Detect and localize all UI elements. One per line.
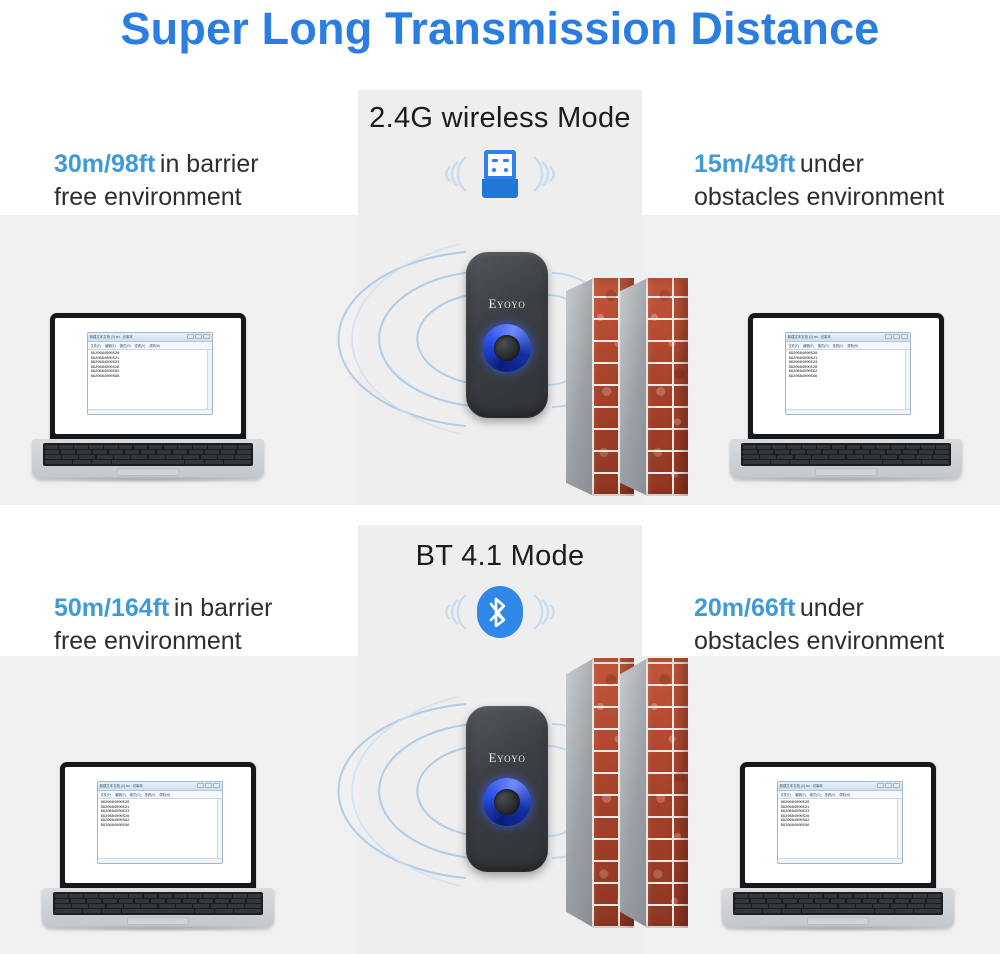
horizontal-scrollbar[interactable]: [88, 409, 212, 414]
laptop-lid: 新建文本文档 (2).txt - 记事本 文件(F) 编辑(E) 格式(O): [740, 762, 936, 890]
laptop-keyboard: [43, 443, 253, 466]
laptop-screen: 新建文本文档 (2).txt - 记事本 文件(F) 编辑(E) 格式(O): [745, 767, 931, 883]
notepad-menubar[interactable]: 文件(F) 编辑(E) 格式(O) 查看(V) 帮助(H): [98, 791, 222, 799]
notepad-menubar[interactable]: 文件(F) 编辑(E) 格式(O) 查看(V) 帮助(H): [786, 342, 910, 350]
laptop-base: [722, 888, 954, 928]
laptop-keyboard: [741, 443, 951, 466]
minimize-icon[interactable]: [877, 783, 884, 788]
notepad-text-area[interactable]: 6920684000520 6920684000521 692068400052…: [786, 350, 910, 415]
scan-button-icon[interactable]: [483, 778, 531, 826]
notepad-window-buttons[interactable]: [885, 334, 908, 339]
menu-item-view[interactable]: 查看(V): [833, 343, 844, 348]
signal-arcs-right-icon: [526, 151, 572, 197]
menu-item-help[interactable]: 帮助(H): [839, 792, 850, 797]
signal-arcs-right-icon: [526, 589, 572, 635]
notepad-titlebar: 新建文本文档 (2).txt - 记事本: [778, 782, 902, 791]
close-icon[interactable]: [213, 783, 220, 788]
mode-header-24g: 2.4G wireless Mode: [358, 102, 642, 205]
laptop-right-bt: 新建文本文档 (2).txt - 记事本 文件(F) 编辑(E) 格式(O): [722, 762, 954, 932]
barcode-line: 6920684000596: [789, 375, 907, 380]
laptop-base: [42, 888, 274, 928]
notepad-text-area[interactable]: 6920684000520 6920684000521 692068400052…: [88, 350, 212, 415]
menu-item-view[interactable]: 查看(V): [825, 792, 836, 797]
menu-item-view[interactable]: 查看(V): [145, 792, 156, 797]
distance-desc2-right-bt: obstacles environment: [694, 625, 944, 658]
laptop-lid: 新建文本文档 (2).txt - 记事本 文件(F) 编辑(E) 格式(O): [60, 762, 256, 890]
distance-value-right-24g: 15m/49ft: [694, 150, 795, 178]
distance-desc-right-24g: under: [800, 150, 864, 178]
mode-icon-wrap-bt: [358, 581, 642, 643]
menu-item-view[interactable]: 查看(V): [135, 343, 146, 348]
notepad-titlebar: 新建文本文档 (2).txt - 记事本: [786, 333, 910, 342]
menu-item-file[interactable]: 文件(F): [101, 792, 111, 797]
vertical-scrollbar[interactable]: [905, 350, 910, 410]
section-2-4g-wireless: 2.4G wireless Mode: [0, 60, 1000, 505]
menu-item-file[interactable]: 文件(F): [789, 343, 799, 348]
caption-left-24g: 30m/98ft in barrier free environment: [54, 148, 259, 214]
minimize-icon[interactable]: [197, 783, 204, 788]
notepad-window-buttons[interactable]: [197, 783, 220, 788]
minimize-icon[interactable]: [885, 334, 892, 339]
brick-wall-2-bt: [620, 658, 690, 928]
notepad-window-buttons[interactable]: [187, 334, 210, 339]
vertical-scrollbar[interactable]: [207, 350, 212, 410]
horizontal-scrollbar[interactable]: [98, 858, 222, 863]
mode-icon-wrap-24g: [358, 143, 642, 205]
scan-button-icon[interactable]: [483, 324, 531, 372]
maximize-icon[interactable]: [893, 334, 900, 339]
barcode-line: 6920684000596: [101, 824, 219, 829]
laptop-shadow: [734, 476, 958, 483]
horizontal-scrollbar[interactable]: [786, 409, 910, 414]
laptop-keyboard: [733, 892, 943, 915]
menu-item-edit[interactable]: 编辑(E): [105, 343, 116, 348]
close-icon[interactable]: [893, 783, 900, 788]
laptop-base: [730, 439, 962, 479]
menu-item-file[interactable]: 文件(F): [781, 792, 791, 797]
notepad-title-text: 新建文本文档 (2).txt - 记事本: [780, 783, 823, 788]
notepad-text-area[interactable]: 6920684000520 6920684000521 692068400052…: [98, 799, 222, 864]
distance-value-left-24g: 30m/98ft: [54, 150, 155, 178]
laptop-touchpad: [815, 468, 877, 476]
menu-item-help[interactable]: 帮助(H): [149, 343, 160, 348]
laptop-left-24g: 新建文本文档 (2).txt - 记事本 文件(F) 编辑(E) 格式(O): [32, 313, 264, 483]
barcode-line: 6920684000596: [91, 375, 209, 380]
infographic-page: Super Long Transmission Distance 2.4G wi…: [0, 0, 1000, 954]
mode-title-24g: 2.4G wireless Mode: [358, 102, 642, 135]
caption-right-bt: 20m/66ft under obstacles environment: [694, 592, 944, 658]
menu-item-file[interactable]: 文件(F): [91, 343, 101, 348]
minimize-icon[interactable]: [187, 334, 194, 339]
laptop-touchpad: [807, 917, 869, 925]
laptop-screen: 新建文本文档 (2).txt - 记事本 文件(F) 编辑(E) 格式(O): [65, 767, 251, 883]
maximize-icon[interactable]: [885, 783, 892, 788]
distance-desc2-left-24g: free environment: [54, 181, 259, 214]
signal-waves-left-24g: [228, 250, 478, 430]
notepad-text-area[interactable]: 6920684000520 6920684000521 692068400052…: [778, 799, 902, 864]
notepad-window[interactable]: 新建文本文档 (2).txt - 记事本 文件(F) 编辑(E) 格式(O): [777, 781, 903, 865]
menu-item-edit[interactable]: 编辑(E): [115, 792, 126, 797]
section-bt-41: BT 4.1 Mode: [0, 518, 1000, 954]
laptop-screen: 新建文本文档 (2).txt - 记事本 文件(F) 编辑(E) 格式(O): [55, 318, 241, 434]
close-icon[interactable]: [203, 334, 210, 339]
close-icon[interactable]: [901, 334, 908, 339]
notepad-menubar[interactable]: 文件(F) 编辑(E) 格式(O) 查看(V) 帮助(H): [778, 791, 902, 799]
menu-item-format[interactable]: 格式(O): [130, 792, 141, 797]
distance-desc-left-bt: in barrier: [174, 594, 273, 622]
menu-item-edit[interactable]: 编辑(E): [795, 792, 806, 797]
brick-wall-2-24g: [620, 278, 690, 496]
device-brand-label: Eyoyo: [466, 296, 548, 312]
notepad-titlebar: 新建文本文档 (2).txt - 记事本: [88, 333, 212, 342]
notepad-menubar[interactable]: 文件(F) 编辑(E) 格式(O) 查看(V) 帮助(H): [88, 342, 212, 350]
laptop-base: [32, 439, 264, 479]
vertical-scrollbar[interactable]: [897, 799, 902, 859]
notepad-window[interactable]: 新建文本文档 (2).txt - 记事本 文件(F) 编辑(E) 格式(O): [97, 781, 223, 865]
signal-arcs-left-icon: [428, 151, 474, 197]
notepad-window-buttons[interactable]: [877, 783, 900, 788]
caption-right-24g: 15m/49ft under obstacles environment: [694, 148, 944, 214]
distance-desc-left-24g: in barrier: [160, 150, 259, 178]
laptop-shadow: [36, 476, 260, 483]
menu-item-format[interactable]: 格式(O): [810, 792, 821, 797]
signal-arcs-left-icon: [428, 589, 474, 635]
laptop-touchpad: [127, 917, 189, 925]
caption-left-bt: 50m/164ft in barrier free environment: [54, 592, 272, 658]
notepad-title-text: 新建文本文档 (2).txt - 记事本: [90, 334, 133, 339]
horizontal-scrollbar[interactable]: [778, 858, 902, 863]
laptop-screen: 新建文本文档 (2).txt - 记事本 文件(F) 编辑(E) 格式(O): [753, 318, 939, 434]
notepad-window[interactable]: 新建文本文档 (2).txt - 记事本 文件(F) 编辑(E) 格式(O): [785, 332, 911, 416]
laptop-shadow: [726, 925, 950, 932]
bluetooth-icon: [477, 586, 523, 638]
notepad-title-text: 新建文本文档 (2).txt - 记事本: [788, 334, 831, 339]
device-brand-label: Eyoyo: [466, 750, 548, 766]
menu-item-format[interactable]: 格式(O): [818, 343, 829, 348]
menu-item-format[interactable]: 格式(O): [120, 343, 131, 348]
distance-desc2-left-bt: free environment: [54, 625, 272, 658]
barcode-line: 6920684000596: [781, 824, 899, 829]
distance-value-right-bt: 20m/66ft: [694, 594, 795, 622]
laptop-right-24g: 新建文本文档 (2).txt - 记事本 文件(F) 编辑(E) 格式(O): [730, 313, 962, 483]
laptop-left-bt: 新建文本文档 (2).txt - 记事本 文件(F) 编辑(E) 格式(O): [42, 762, 274, 932]
maximize-icon[interactable]: [195, 334, 202, 339]
menu-item-edit[interactable]: 编辑(E): [803, 343, 814, 348]
laptop-shadow: [46, 925, 270, 932]
laptop-touchpad: [117, 468, 179, 476]
menu-item-help[interactable]: 帮助(H): [847, 343, 858, 348]
notepad-window[interactable]: 新建文本文档 (2).txt - 记事本 文件(F) 编辑(E) 格式(O): [87, 332, 213, 416]
distance-value-left-bt: 50m/164ft: [54, 594, 169, 622]
menu-item-help[interactable]: 帮助(H): [159, 792, 170, 797]
barcode-scanner-device-bt: Eyoyo: [466, 706, 548, 872]
mode-header-bt: BT 4.1 Mode: [358, 540, 642, 643]
distance-desc-right-bt: under: [800, 594, 864, 622]
notepad-title-text: 新建文本文档 (2).txt - 记事本: [100, 783, 143, 788]
laptop-lid: 新建文本文档 (2).txt - 记事本 文件(F) 编辑(E) 格式(O): [50, 313, 246, 441]
mode-title-bt: BT 4.1 Mode: [358, 540, 642, 573]
notepad-titlebar: 新建文本文档 (2).txt - 记事本: [98, 782, 222, 791]
barcode-scanner-device-24g: Eyoyo: [466, 252, 548, 418]
maximize-icon[interactable]: [205, 783, 212, 788]
usb-dongle-icon: [480, 150, 520, 198]
laptop-lid: 新建文本文档 (2).txt - 记事本 文件(F) 编辑(E) 格式(O): [748, 313, 944, 441]
vertical-scrollbar[interactable]: [217, 799, 222, 859]
laptop-keyboard: [53, 892, 263, 915]
page-title: Super Long Transmission Distance: [0, 0, 1000, 58]
distance-desc2-right-24g: obstacles environment: [694, 181, 944, 214]
